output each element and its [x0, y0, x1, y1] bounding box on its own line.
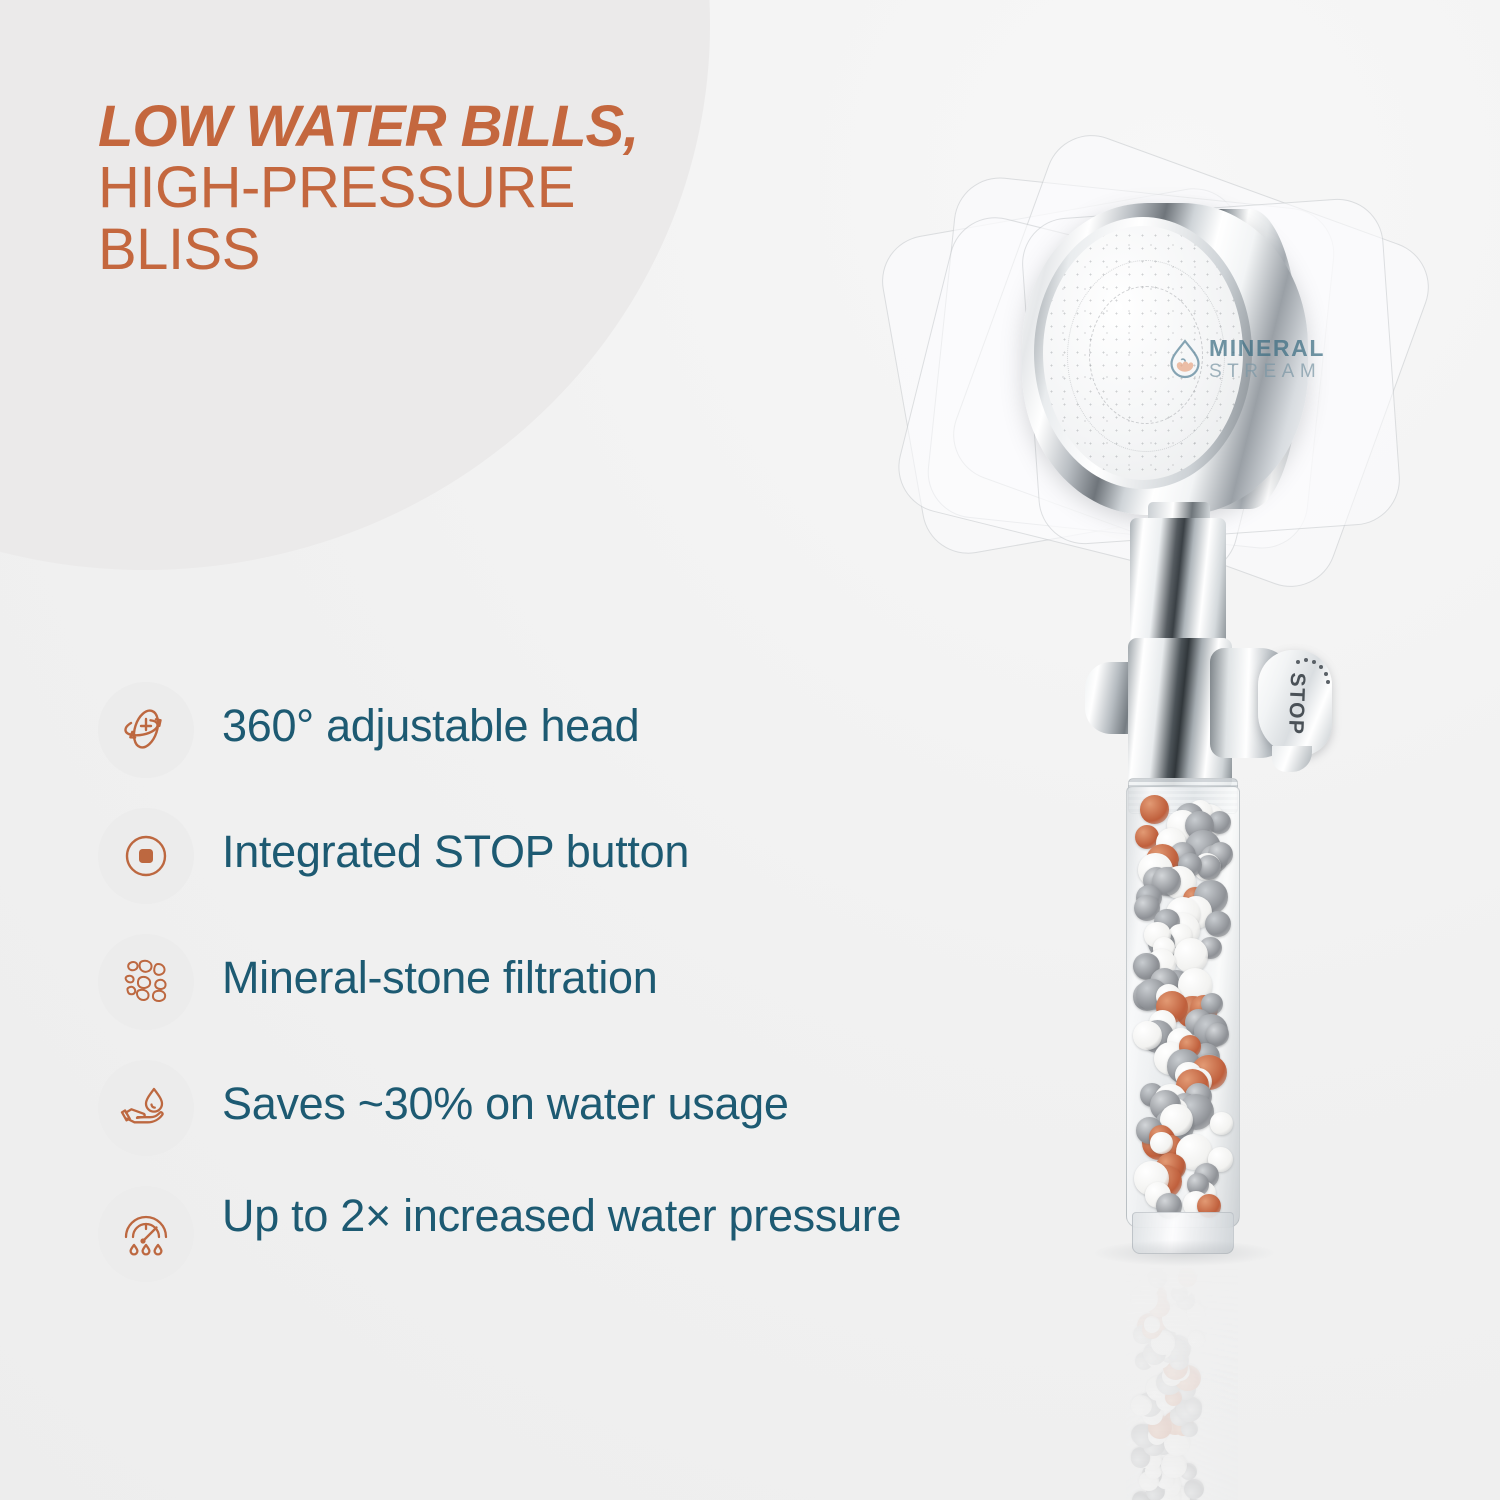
- list-item-label: Saves ~30% on water usage: [222, 1058, 789, 1130]
- stop-button-icon: [98, 808, 194, 904]
- shower-head: MINERAL STREAM: [1000, 185, 1320, 535]
- pressure-gauge-icon: [98, 1186, 194, 1282]
- mineral-bead: [1178, 1268, 1196, 1286]
- page-title: LOW WATER BILLS, HIGH-PRESSURE BLISS: [98, 96, 798, 280]
- headline-line-2: HIGH-PRESSURE: [98, 157, 798, 218]
- mineral-bead: [1148, 1268, 1167, 1287]
- mineral-bead: [1184, 1479, 1204, 1499]
- list-item-label: Mineral-stone filtration: [222, 932, 657, 1004]
- infographic-canvas: LOW WATER BILLS, HIGH-PRESSURE BLISS 360…: [0, 0, 1500, 1500]
- spray-ring-inner: [1089, 286, 1203, 424]
- mineral-bead: [1140, 795, 1169, 824]
- stop-button-tail: [1272, 746, 1312, 772]
- mineral-stones-icon: [98, 934, 194, 1030]
- mineral-bead: [1150, 1132, 1172, 1154]
- mineral-bead: [1205, 911, 1231, 937]
- stop-button[interactable]: STOP: [1258, 650, 1332, 756]
- list-item-label: Up to 2× increased water pressure: [222, 1184, 901, 1242]
- shower-head-bezel: [1022, 203, 1308, 515]
- mineral-bead: [1188, 1331, 1205, 1348]
- shower-head-inner-ring: [1034, 217, 1252, 489]
- product-reflection: [1126, 1262, 1238, 1500]
- rotate-360-icon: [98, 682, 194, 778]
- stop-button-label: STOP: [1259, 677, 1333, 731]
- mineral-bead: [1210, 1112, 1232, 1134]
- spray-ring-outer: [1067, 260, 1225, 452]
- list-item-label: 360° adjustable head: [222, 680, 639, 752]
- headline-line-3: BLISS: [98, 219, 798, 280]
- headline-line-1: LOW WATER BILLS,: [98, 96, 798, 157]
- product-image: MINERAL STREAM STOP: [880, 150, 1500, 1500]
- mineral-filter-chamber: [1126, 786, 1240, 1228]
- spray-face: [1043, 226, 1243, 480]
- mineral-bead: [1144, 1316, 1161, 1333]
- mineral-bead: [1161, 1453, 1187, 1479]
- hand-water-drop-icon: [98, 1060, 194, 1156]
- swivel-neck: [1130, 518, 1226, 646]
- list-item-label: Integrated STOP button: [222, 806, 689, 878]
- background-blob: [0, 0, 710, 570]
